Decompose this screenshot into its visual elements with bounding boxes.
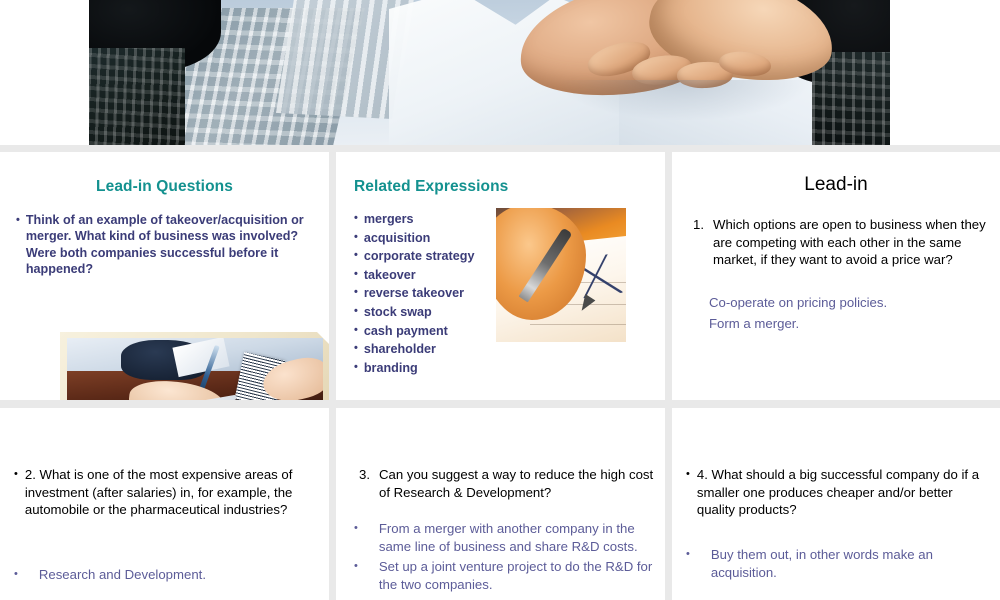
question-4-block: • 4. What should a big successful compan… xyxy=(686,466,988,519)
answer-item: • Research and Development. xyxy=(14,566,314,584)
list-item: • shareholder xyxy=(354,340,554,359)
answer-text: Buy them out, in other words make an acq… xyxy=(697,546,988,581)
answer-item: • Buy them out, in other words make an a… xyxy=(686,546,988,581)
bullet-dot-icon: • xyxy=(354,322,358,341)
business-meeting-photo-frame xyxy=(60,332,329,400)
list-item-label: reverse takeover xyxy=(364,284,464,303)
question-2-block: • 2. What is one of the most expensive a… xyxy=(14,466,314,519)
panel-question-3: 3. Can you suggest a way to reduce the h… xyxy=(336,408,665,600)
dark-tower-left xyxy=(89,48,185,145)
answer-item: • Set up a joint venture project to do t… xyxy=(354,558,654,593)
bullet-dot-icon: • xyxy=(354,558,358,593)
answer-text: Co-operate on pricing policies. xyxy=(709,292,989,313)
panel-lead-in: Lead-in 1. Which options are open to bus… xyxy=(672,152,1000,400)
question-2-answers: • Research and Development. xyxy=(14,566,314,584)
question-text: Which options are open to business when … xyxy=(713,216,988,269)
question-text: Can you suggest a way to reduce the high… xyxy=(379,466,654,501)
divider-vertical-r2-a xyxy=(329,408,336,600)
slide-canvas: Lead-in Questions • Think of an example … xyxy=(0,0,1000,600)
lead-in-question-block: 1. Which options are open to business wh… xyxy=(688,216,988,269)
divider-vertical-r1-a xyxy=(329,152,336,400)
numbered-item: 1. Which options are open to business wh… xyxy=(688,216,988,269)
list-item-label: mergers xyxy=(364,210,414,229)
answer-text: Form a merger. xyxy=(709,313,989,334)
bullet-dot-icon: • xyxy=(16,212,20,278)
panel-title-related-expressions: Related Expressions xyxy=(354,178,508,196)
list-item-label: cash payment xyxy=(364,322,448,341)
divider-horizontal-mid xyxy=(0,400,1000,408)
panel-lead-in-questions: Lead-in Questions • Think of an example … xyxy=(0,152,329,400)
handshake-header-image xyxy=(89,0,890,145)
panel-question-2: • 2. What is one of the most expensive a… xyxy=(0,408,329,600)
answer-text: From a merger with another company in th… xyxy=(365,520,654,555)
answer-text: Research and Development. xyxy=(25,566,206,584)
question-item: • 4. What should a big successful compan… xyxy=(686,466,988,519)
list-item-label: shareholder xyxy=(364,340,436,359)
panel-title-lead-in: Lead-in xyxy=(672,174,1000,196)
question-3-answers: • From a merger with another company in … xyxy=(354,520,654,596)
bullet-dot-icon: • xyxy=(354,210,358,229)
numbered-item: 3. Can you suggest a way to reduce the h… xyxy=(354,466,654,501)
list-item-label: acquisition xyxy=(364,229,430,248)
divider-vertical-r1-b xyxy=(665,152,672,400)
question-item: • 2. What is one of the most expensive a… xyxy=(14,466,314,519)
bullet-dot-icon: • xyxy=(686,466,690,519)
list-item-label: stock swap xyxy=(364,303,432,322)
answer-text: Set up a joint venture project to do the… xyxy=(365,558,654,593)
item-number: 3. xyxy=(354,466,370,501)
bullet-dot-icon: • xyxy=(354,303,358,322)
question-3-block: 3. Can you suggest a way to reduce the h… xyxy=(354,466,654,501)
question-4-answers: • Buy them out, in other words make an a… xyxy=(686,546,988,581)
lead-in-questions-bullet-list: • Think of an example of takeover/acquis… xyxy=(16,212,306,278)
answer-item: • From a merger with another company in … xyxy=(354,520,654,555)
bullet-dot-icon: • xyxy=(354,359,358,378)
bullet-dot-icon: • xyxy=(354,229,358,248)
question-text: 4. What should a big successful company … xyxy=(697,466,988,519)
ruled-line xyxy=(530,324,626,325)
list-item-label: corporate strategy xyxy=(364,247,475,266)
bullet-dot-icon: • xyxy=(354,340,358,359)
lead-in-answers: Co-operate on pricing policies. Form a m… xyxy=(709,292,989,334)
bullet-dot-icon: • xyxy=(354,284,358,303)
business-meeting-photo xyxy=(67,338,323,400)
item-number: 1. xyxy=(688,216,704,269)
bullet-dot-icon: • xyxy=(14,566,18,584)
panel-question-4: • 4. What should a big successful compan… xyxy=(672,408,1000,600)
panel-title-lead-in-questions: Lead-in Questions xyxy=(0,178,329,196)
hand-signing-photo xyxy=(496,208,626,342)
divider-vertical-r2-b xyxy=(665,408,672,600)
list-item-label: Think of an example of takeover/acquisit… xyxy=(26,212,306,278)
list-item-label: takeover xyxy=(364,266,416,285)
list-item: • branding xyxy=(354,359,554,378)
bullet-dot-icon: • xyxy=(686,546,690,581)
bullet-dot-icon: • xyxy=(354,247,358,266)
list-item-label: branding xyxy=(364,359,418,378)
list-item: • Think of an example of takeover/acquis… xyxy=(16,212,306,278)
bullet-dot-icon: • xyxy=(354,520,358,555)
bullet-dot-icon: • xyxy=(14,466,18,519)
question-text: 2. What is one of the most expensive are… xyxy=(25,466,314,519)
photo-shadow xyxy=(559,80,809,120)
bullet-dot-icon: • xyxy=(354,266,358,285)
